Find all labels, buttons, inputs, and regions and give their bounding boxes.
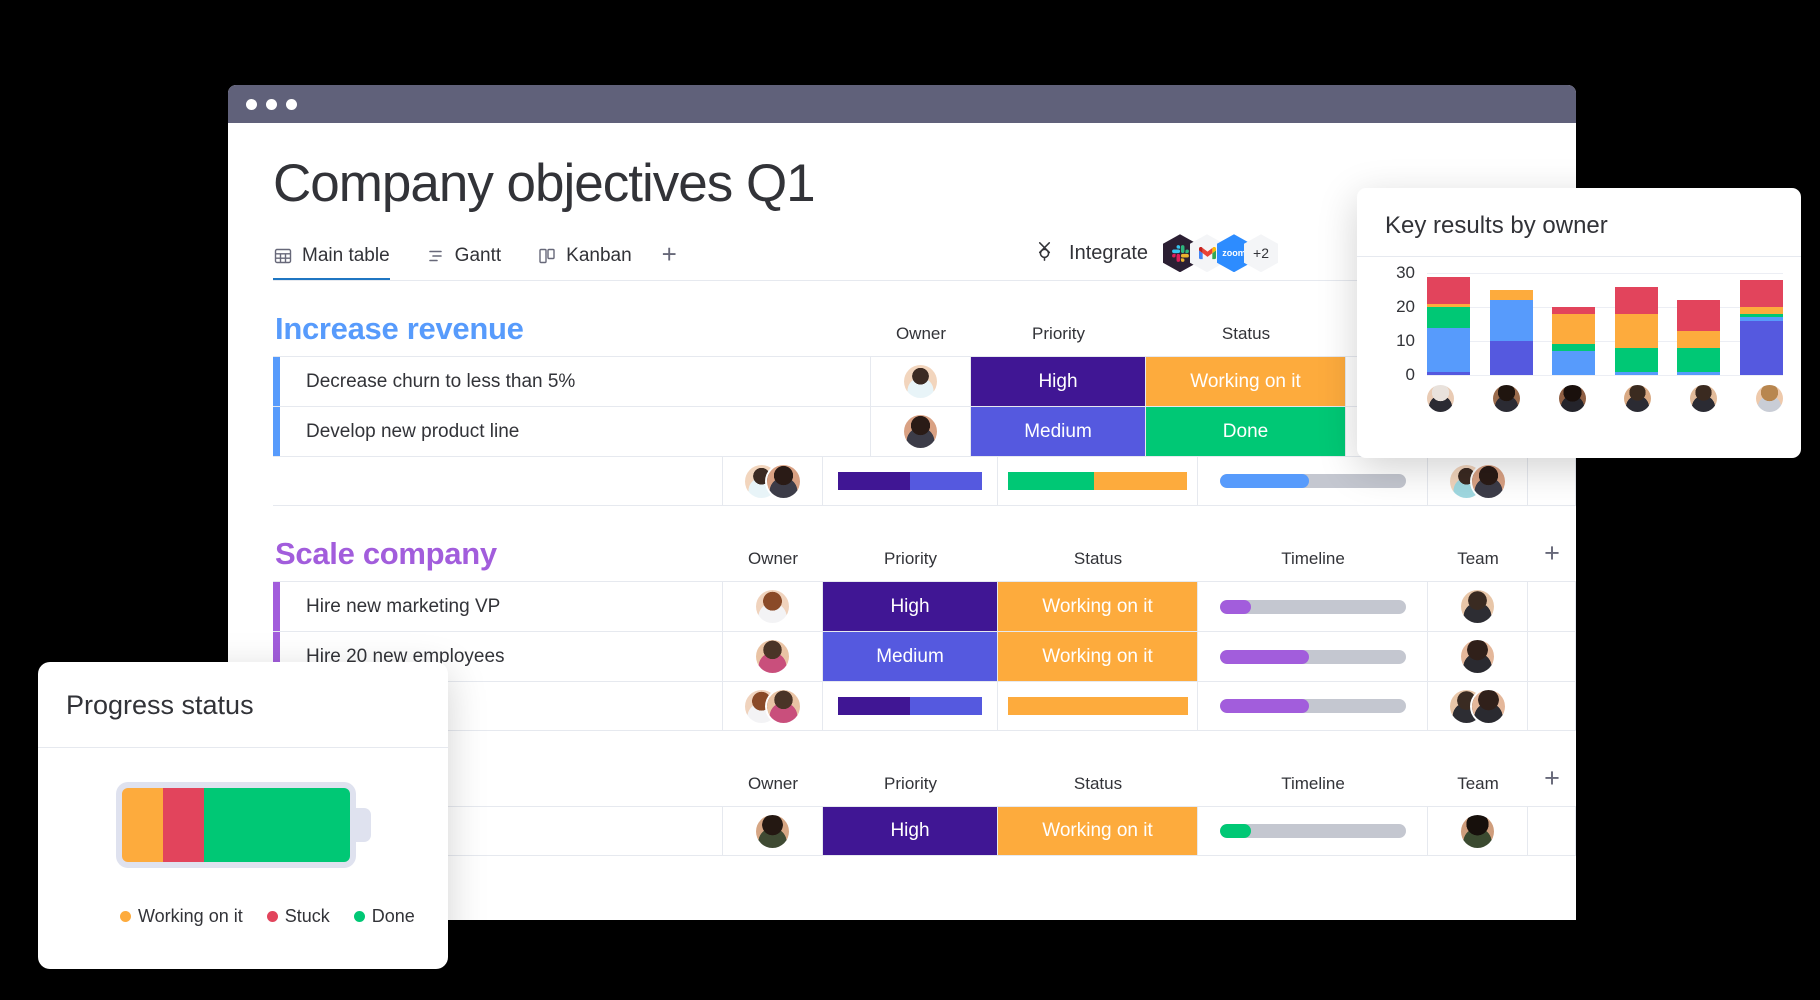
stacked-bar[interactable] (1677, 300, 1720, 375)
bar-segment-done (1615, 348, 1658, 372)
avatar (767, 690, 800, 723)
column-header-status[interactable]: Status (1146, 324, 1346, 347)
summary-status (998, 682, 1198, 730)
row-status[interactable]: Done (1146, 407, 1346, 456)
legend-item-done: Done (354, 906, 415, 927)
y-tick-20: 20 (1396, 297, 1415, 317)
row-team[interactable] (1428, 582, 1528, 631)
table-icon (273, 246, 293, 266)
bar-segment-working (1552, 314, 1595, 345)
window-titlebar (228, 85, 1576, 123)
column-header-priority[interactable]: Priority (823, 774, 998, 797)
chart-category-avatars (1427, 385, 1801, 412)
legend-label: Working on it (138, 906, 243, 927)
summary-add-cell (1528, 682, 1576, 730)
avatar (1756, 385, 1783, 412)
row-timeline[interactable] (1198, 582, 1428, 631)
key-results-chart: 30 20 10 0 (1357, 257, 1801, 375)
row-add-cell (1528, 582, 1576, 631)
avatar (1624, 385, 1651, 412)
group-title: Increase revenue (275, 311, 524, 347)
row-team[interactable] (1428, 807, 1528, 855)
row-accent (273, 407, 280, 456)
integrate-label: Integrate (1069, 242, 1148, 265)
row-owner[interactable] (723, 632, 823, 681)
stacked-bar[interactable] (1427, 276, 1470, 375)
legend-swatch (267, 911, 278, 922)
row-priority[interactable]: Medium (823, 632, 998, 681)
row-timeline[interactable] (1198, 807, 1428, 855)
row-priority[interactable]: High (823, 807, 998, 855)
legend-swatch (354, 911, 365, 922)
row-status[interactable]: Working on it (1146, 357, 1346, 406)
row-status[interactable]: Working on it (998, 632, 1198, 681)
row-owner[interactable] (723, 582, 823, 631)
progress-legend: Working on it Stuck Done (38, 868, 448, 927)
bar-segment-planned (1490, 341, 1533, 375)
window-dot-close[interactable] (246, 99, 257, 110)
column-headers: Owner Priority Status Timeline Team + (723, 763, 1576, 797)
avatar (1472, 690, 1505, 723)
row-accent (273, 357, 280, 406)
battery-cap (355, 808, 371, 842)
row-priority[interactable]: High (971, 357, 1146, 406)
column-header-team[interactable]: Team (1428, 774, 1528, 797)
window-dot-minimize[interactable] (266, 99, 277, 110)
summary-add-cell (1528, 457, 1576, 505)
bar-segment-stuck (1677, 300, 1720, 331)
bar-segment-working (1490, 290, 1533, 300)
tab-kanban-label: Kanban (566, 245, 632, 267)
summary-name (280, 457, 723, 505)
avatar (904, 415, 937, 448)
chart-plot-area (1427, 273, 1783, 375)
row-owner[interactable] (871, 407, 971, 456)
add-view-button[interactable]: + (662, 239, 677, 281)
row-priority[interactable]: High (823, 582, 998, 631)
key-results-card: Key results by owner 30 20 10 0 (1357, 188, 1801, 458)
bar-segment-inprogress (1677, 372, 1720, 375)
integrate-button[interactable]: Integrate (1033, 234, 1278, 272)
tab-gantt[interactable]: Gantt (426, 245, 501, 281)
timeline-progress-bar (1220, 699, 1406, 713)
stacked-bar[interactable] (1740, 280, 1783, 375)
bar-segment-planned (1740, 321, 1783, 375)
chart-y-axis: 30 20 10 0 (1375, 273, 1415, 375)
progress-status-title: Progress status (38, 662, 448, 748)
bar-segment-working (1615, 314, 1658, 348)
bar-segment-inprogress (1615, 372, 1658, 375)
battery-segment-stuck (163, 788, 204, 862)
legend-label: Done (372, 906, 415, 927)
legend-label: Stuck (285, 906, 330, 927)
window-dot-maximize[interactable] (286, 99, 297, 110)
legend-item-working: Working on it (120, 906, 243, 927)
timeline-progress-bar (1220, 650, 1406, 664)
bar-segment-stuck (1615, 287, 1658, 314)
row-status[interactable]: Working on it (998, 807, 1198, 855)
row-accent (273, 582, 280, 631)
avatar (1461, 590, 1494, 623)
y-tick-30: 30 (1396, 263, 1415, 283)
bar-segment-done (1427, 307, 1470, 327)
bar-segment-stuck (1427, 277, 1470, 304)
timeline-progress-bar (1220, 824, 1406, 838)
bar-segment-planned (1427, 372, 1470, 375)
table-row[interactable]: Hire new marketing VP High Working on it (273, 581, 1576, 631)
bar-segment-working (1740, 307, 1783, 314)
row-name[interactable]: Decrease churn to less than 5% (280, 357, 871, 406)
tab-main-table-label: Main table (302, 245, 390, 267)
avatar (1472, 465, 1505, 498)
summary-timeline (1198, 682, 1428, 730)
column-header-team[interactable]: Team (1428, 549, 1528, 572)
priority-distribution-bar (838, 697, 982, 715)
table-row[interactable]: d 24/7 support High Working on it (273, 806, 1576, 856)
summary-owners (723, 457, 823, 505)
y-tick-10: 10 (1396, 331, 1415, 351)
avatar (1427, 385, 1454, 412)
row-owner[interactable] (871, 357, 971, 406)
avatar (1493, 385, 1520, 412)
status-distribution-bar (1008, 472, 1188, 490)
row-team[interactable] (1428, 632, 1528, 681)
tab-gantt-label: Gantt (455, 245, 501, 267)
battery-segment-done (204, 788, 350, 862)
add-column-button[interactable]: + (1528, 763, 1576, 797)
row-add-cell (1528, 807, 1576, 855)
stacked-bar[interactable] (1490, 290, 1533, 375)
table-row[interactable]: Hire 20 new employees Medium Working on … (273, 631, 1576, 681)
avatar-group (1450, 690, 1505, 723)
avatar-group (1450, 465, 1505, 498)
group-header: Owner Priority Status Timeline Team + (273, 759, 1576, 797)
column-headers: Owner Priority Status Timeline Team + (723, 538, 1576, 572)
group-header: Scale company Owner Priority Status Time… (273, 534, 1576, 572)
summary-owners (723, 682, 823, 730)
integrations-more-badge[interactable]: +2 (1244, 234, 1278, 272)
plug-icon (1033, 239, 1056, 267)
row-name[interactable]: Hire new marketing VP (280, 582, 723, 631)
avatar (904, 365, 937, 398)
row-name[interactable]: Develop new product line (280, 407, 871, 456)
legend-swatch (120, 911, 131, 922)
column-header-priority[interactable]: Priority (971, 324, 1146, 347)
avatar (756, 640, 789, 673)
avatar (1690, 385, 1717, 412)
group-title: Scale company (275, 536, 497, 572)
row-owner[interactable] (723, 807, 823, 855)
screenshot-root: Company objectives Q1 Main table (0, 0, 1820, 1000)
status-distribution-bar (1008, 697, 1188, 715)
priority-distribution-bar (838, 472, 982, 490)
timeline-progress-bar (1220, 600, 1406, 614)
group-summary-row (273, 681, 1576, 731)
row-add-cell (1528, 632, 1576, 681)
avatar (1461, 815, 1494, 848)
avatar-group (745, 690, 800, 723)
legend-item-stuck: Stuck (267, 906, 330, 927)
row-accent (273, 457, 280, 505)
avatar (1559, 385, 1586, 412)
summary-priority (823, 457, 998, 505)
view-tabs: Main table Gantt (273, 245, 632, 281)
row-priority[interactable]: Medium (971, 407, 1146, 456)
group-summary-row (273, 456, 1576, 506)
key-results-title: Key results by owner (1357, 188, 1801, 257)
kanban-icon (537, 246, 557, 266)
bar-segment-stuck (1740, 280, 1783, 307)
bar-segment-working (1677, 331, 1720, 348)
integration-app-icons: zoom +2 (1163, 234, 1278, 272)
progress-battery (38, 748, 448, 868)
bar-segment-done (1677, 348, 1720, 372)
bar-segment-done (1552, 344, 1595, 351)
column-header-timeline[interactable]: Timeline (1198, 549, 1428, 572)
bar-segment-inprogress (1552, 351, 1595, 375)
row-timeline[interactable] (1198, 632, 1428, 681)
summary-status (998, 457, 1198, 505)
column-header-priority[interactable]: Priority (823, 549, 998, 572)
avatar (767, 465, 800, 498)
summary-team (1428, 682, 1528, 730)
group-rows: d 24/7 support High Working on it (273, 806, 1576, 856)
column-header-owner[interactable]: Owner (723, 774, 823, 797)
bar-segment-inprogress (1427, 328, 1470, 372)
chart-bars (1427, 273, 1783, 375)
column-header-status[interactable]: Status (998, 549, 1198, 572)
y-tick-0: 0 (1406, 365, 1415, 385)
gantt-icon (426, 246, 446, 266)
progress-status-card: Progress status Working on it Stuck Done (38, 662, 448, 969)
column-header-status[interactable]: Status (998, 774, 1198, 797)
group-rows: Hire new marketing VP High Working on it (273, 581, 1576, 731)
column-header-owner[interactable]: Owner (871, 324, 971, 347)
battery-segment-working (122, 788, 163, 862)
battery-body (116, 782, 356, 868)
group-scale-company: Scale company Owner Priority Status Time… (273, 534, 1576, 731)
group-third: Owner Priority Status Timeline Team + d … (273, 759, 1576, 856)
tab-main-table[interactable]: Main table (273, 245, 390, 281)
summary-priority (823, 682, 998, 730)
avatar-group (745, 465, 800, 498)
timeline-progress-bar (1220, 474, 1406, 488)
summary-timeline (1198, 457, 1428, 505)
add-column-button[interactable]: + (1528, 538, 1576, 572)
avatar (756, 815, 789, 848)
row-status[interactable]: Working on it (998, 582, 1198, 631)
bar-segment-inprogress (1490, 300, 1533, 341)
gridline (1427, 375, 1783, 376)
stacked-bar[interactable] (1552, 307, 1595, 375)
column-header-owner[interactable]: Owner (723, 549, 823, 572)
bar-segment-stuck (1552, 307, 1595, 314)
summary-team (1428, 457, 1528, 505)
avatar (1461, 640, 1494, 673)
avatar (756, 590, 789, 623)
tab-kanban[interactable]: Kanban (537, 245, 632, 281)
column-header-timeline[interactable]: Timeline (1198, 774, 1428, 797)
stacked-bar[interactable] (1615, 287, 1658, 375)
